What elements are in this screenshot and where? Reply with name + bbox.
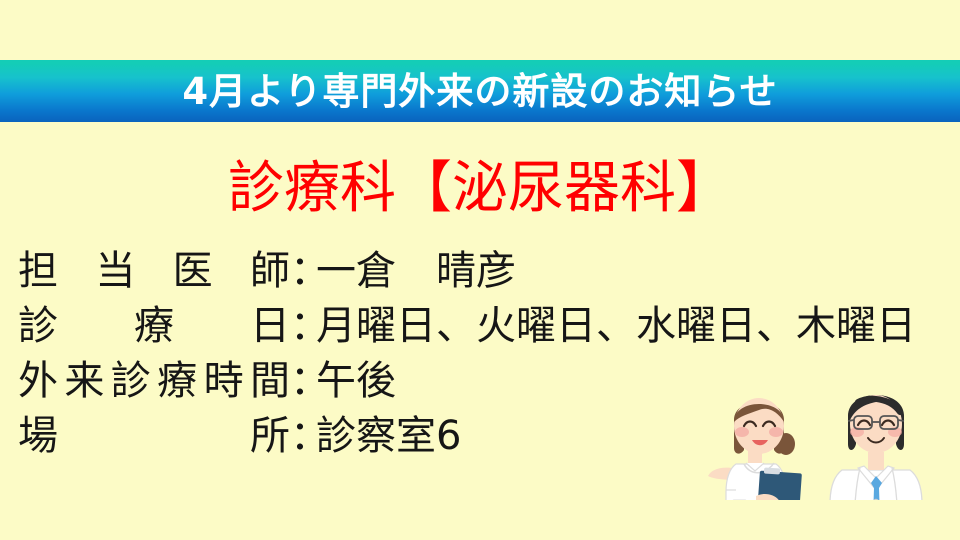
info-colon: ： xyxy=(290,244,316,299)
label-char: 外 xyxy=(18,354,58,409)
info-row-days: 診 療 日 ： 月曜日、火曜日、水曜日、木曜日 xyxy=(18,299,948,354)
info-colon: ： xyxy=(290,409,316,464)
label-char: 療 xyxy=(157,354,197,409)
banner: 4月より専門外来の新設のお知らせ xyxy=(0,60,960,122)
label-char: 来 xyxy=(64,354,104,409)
info-row-doctor: 担 当 医 師 ： 一倉 晴彦 xyxy=(18,244,948,299)
info-label-location: 場 所 xyxy=(18,409,290,464)
info-value-hours: 午後 xyxy=(316,354,396,409)
nurse-figure xyxy=(708,398,802,529)
label-char: 当 xyxy=(95,244,135,299)
department-heading: 診療科【泌尿器科】 xyxy=(0,158,960,221)
info-label-hours: 外 来 診 療 時 間 xyxy=(18,354,290,409)
info-value-days: 月曜日、火曜日、水曜日、木曜日 xyxy=(316,299,916,354)
info-label-days: 診 療 日 xyxy=(18,299,290,354)
label-char: 診 xyxy=(18,299,58,354)
label-char: 間 xyxy=(250,354,290,409)
label-char: 師 xyxy=(250,244,290,299)
nurse-and-doctor-illustration xyxy=(690,368,960,540)
label-char: 診 xyxy=(111,354,151,409)
label-char: 担 xyxy=(18,244,58,299)
label-char: 療 xyxy=(134,299,174,354)
info-label-doctor: 担 当 医 師 xyxy=(18,244,290,299)
poster-canvas: 4月より専門外来の新設のお知らせ 診療科【泌尿器科】 担 当 医 師 ： 一倉 … xyxy=(0,0,960,540)
info-colon: ： xyxy=(290,354,316,409)
label-char: 所 xyxy=(250,409,290,464)
label-char: 医 xyxy=(173,244,213,299)
doctor-figure xyxy=(830,395,922,540)
info-colon: ： xyxy=(290,299,316,354)
banner-title: 4月より専門外来の新設のお知らせ xyxy=(182,73,777,110)
label-char: 場 xyxy=(18,409,58,464)
info-value-location: 診察室6 xyxy=(316,409,461,464)
label-char: 時 xyxy=(204,354,244,409)
label-char: 日 xyxy=(250,299,290,354)
info-value-doctor: 一倉 晴彦 xyxy=(316,244,516,299)
